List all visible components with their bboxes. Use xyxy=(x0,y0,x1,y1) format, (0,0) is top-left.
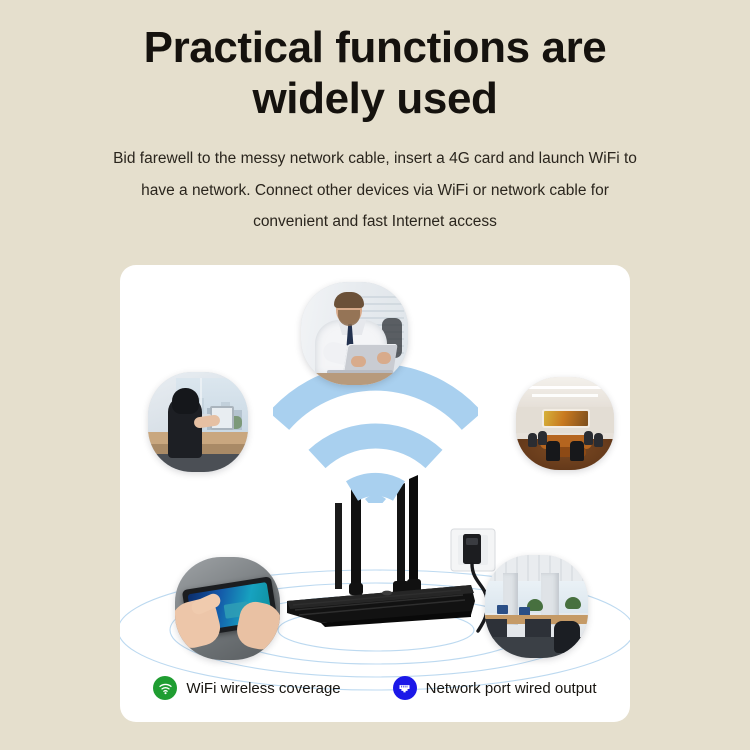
photo-conference-room xyxy=(516,377,614,470)
legend-label-network-port: Network port wired output xyxy=(426,680,597,697)
wifi-icon xyxy=(153,676,177,700)
photo-hand-phone xyxy=(175,557,280,660)
photo-man-laptop xyxy=(301,282,408,385)
legend-item-wifi[interactable]: WiFi wireless coverage xyxy=(153,676,340,700)
photo-woman-desk xyxy=(148,372,248,472)
network-port-icon xyxy=(393,676,417,700)
photo-open-office xyxy=(485,555,588,658)
legend-item-network-port[interactable]: Network port wired output xyxy=(393,676,597,700)
page-subcopy: Bid farewell to the messy network cable,… xyxy=(105,143,645,238)
page-title: Practical functions are widely used xyxy=(95,22,655,125)
infographic-page: Practical functions are widely used Bid … xyxy=(0,0,750,750)
diagram-stage xyxy=(120,265,630,722)
header: Practical functions are widely used Bid … xyxy=(0,22,750,238)
legend-label-wifi: WiFi wireless coverage xyxy=(186,680,340,697)
diagram-card: WiFi wireless coverage Network port wi xyxy=(120,265,630,722)
legend: WiFi wireless coverage Network port wi xyxy=(120,676,630,700)
